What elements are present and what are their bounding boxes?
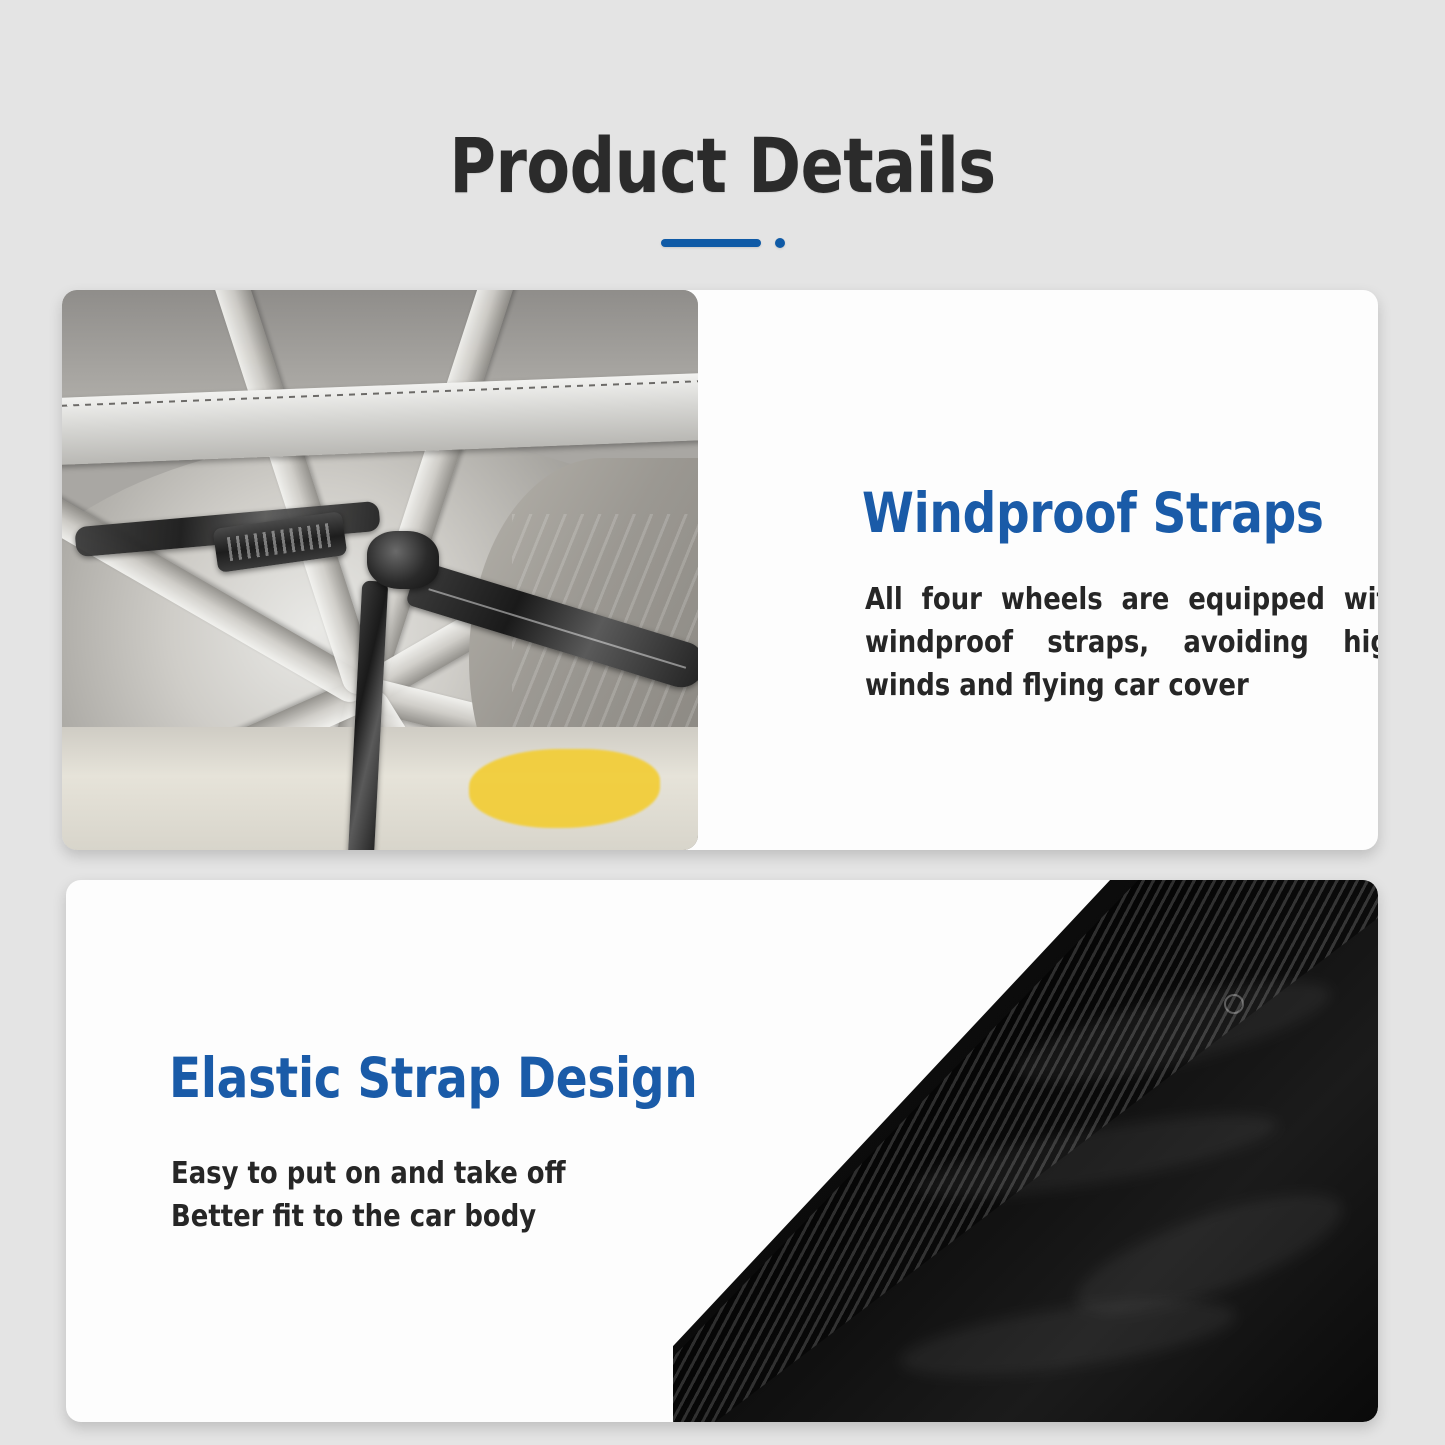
- elastic-hem-photo: [673, 880, 1378, 1422]
- feature-card-windproof-straps: Windproof Straps All four wheels are equ…: [62, 290, 1378, 850]
- divider-bar: [661, 239, 761, 247]
- photo-yellow-paint: [469, 749, 660, 827]
- feature-body-windproof-straps: All four wheels are equipped with windpr…: [865, 578, 1378, 707]
- product-details-page: Product Details: [0, 0, 1445, 1445]
- feature-body-line-2: Better fit to the car body: [171, 1195, 670, 1238]
- windproof-straps-text: Windproof Straps All four wheels are equ…: [800, 290, 1378, 850]
- divider-dot: [775, 238, 785, 248]
- wheel-strap-photo: [62, 290, 698, 850]
- photo-strap-knot: [367, 531, 439, 589]
- page-title: Product Details: [51, 123, 1395, 209]
- photo-grommet: [1224, 994, 1244, 1014]
- feature-title-windproof-straps: Windproof Straps: [862, 483, 1324, 543]
- feature-body-elastic-strap-design: Easy to put on and take off Better fit t…: [171, 1152, 670, 1238]
- feature-body-line-1: Easy to put on and take off: [171, 1152, 670, 1195]
- feature-card-elastic-strap-design: Elastic Strap Design Easy to put on and …: [66, 880, 1378, 1422]
- title-divider: [0, 238, 1445, 248]
- feature-title-elastic-strap-design: Elastic Strap Design: [169, 1048, 697, 1108]
- elastic-strap-text: Elastic Strap Design Easy to put on and …: [103, 880, 743, 1422]
